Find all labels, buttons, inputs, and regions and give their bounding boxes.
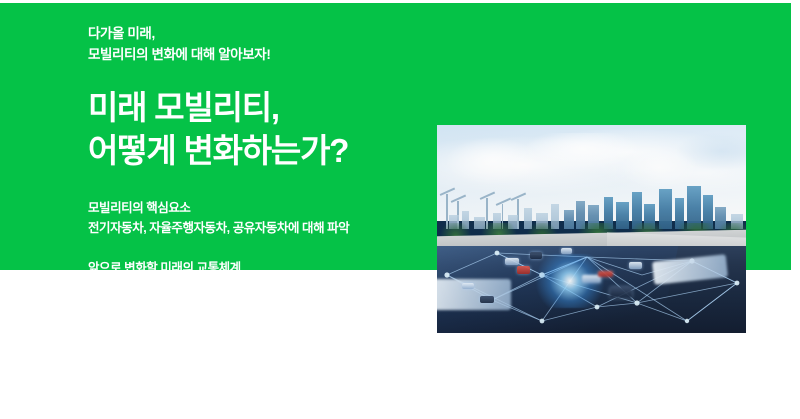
body-block-2-line-2: 어떻게 적응할 것인가? <box>88 279 428 299</box>
headline-line-1: 미래 모빌리티, <box>88 86 428 130</box>
eyebrow-line-2: 모빌리티의 변화에 대해 알아보자! <box>88 45 428 66</box>
headline: 미래 모빌리티, 어떻게 변화하는가? <box>88 86 428 173</box>
body-block-2: 앞으로 변화할 미래의 교통체계 어떻게 적응할 것인가? <box>88 258 428 299</box>
body-block-1-line-2: 전기자동차, 자율주행자동차, 공유자동차에 대해 파악 <box>88 218 428 238</box>
eyebrow-line-1: 다가올 미래, <box>88 24 428 45</box>
body-block-2-line-1: 앞으로 변화할 미래의 교통체계 <box>88 258 428 278</box>
body-block-1: 모빌리티의 핵심요소 전기자동차, 자율주행자동차, 공유자동차에 대해 파악 <box>88 198 428 239</box>
mobility-photo <box>437 125 746 333</box>
eyebrow-text: 다가올 미래, 모빌리티의 변화에 대해 알아보자! <box>88 24 428 66</box>
banner-text-column: 다가올 미래, 모빌리티의 변화에 대해 알아보자! 미래 모빌리티, 어떻게 … <box>88 24 428 299</box>
vehicle-bus-left <box>437 279 511 310</box>
mobility-banner: 다가올 미래, 모빌리티의 변화에 대해 알아보자! 미래 모빌리티, 어떻게 … <box>0 0 800 419</box>
headline-line-2: 어떻게 변화하는가? <box>88 129 428 173</box>
body-block-1-line-1: 모빌리티의 핵심요소 <box>88 198 428 218</box>
photo-inner <box>437 125 746 333</box>
